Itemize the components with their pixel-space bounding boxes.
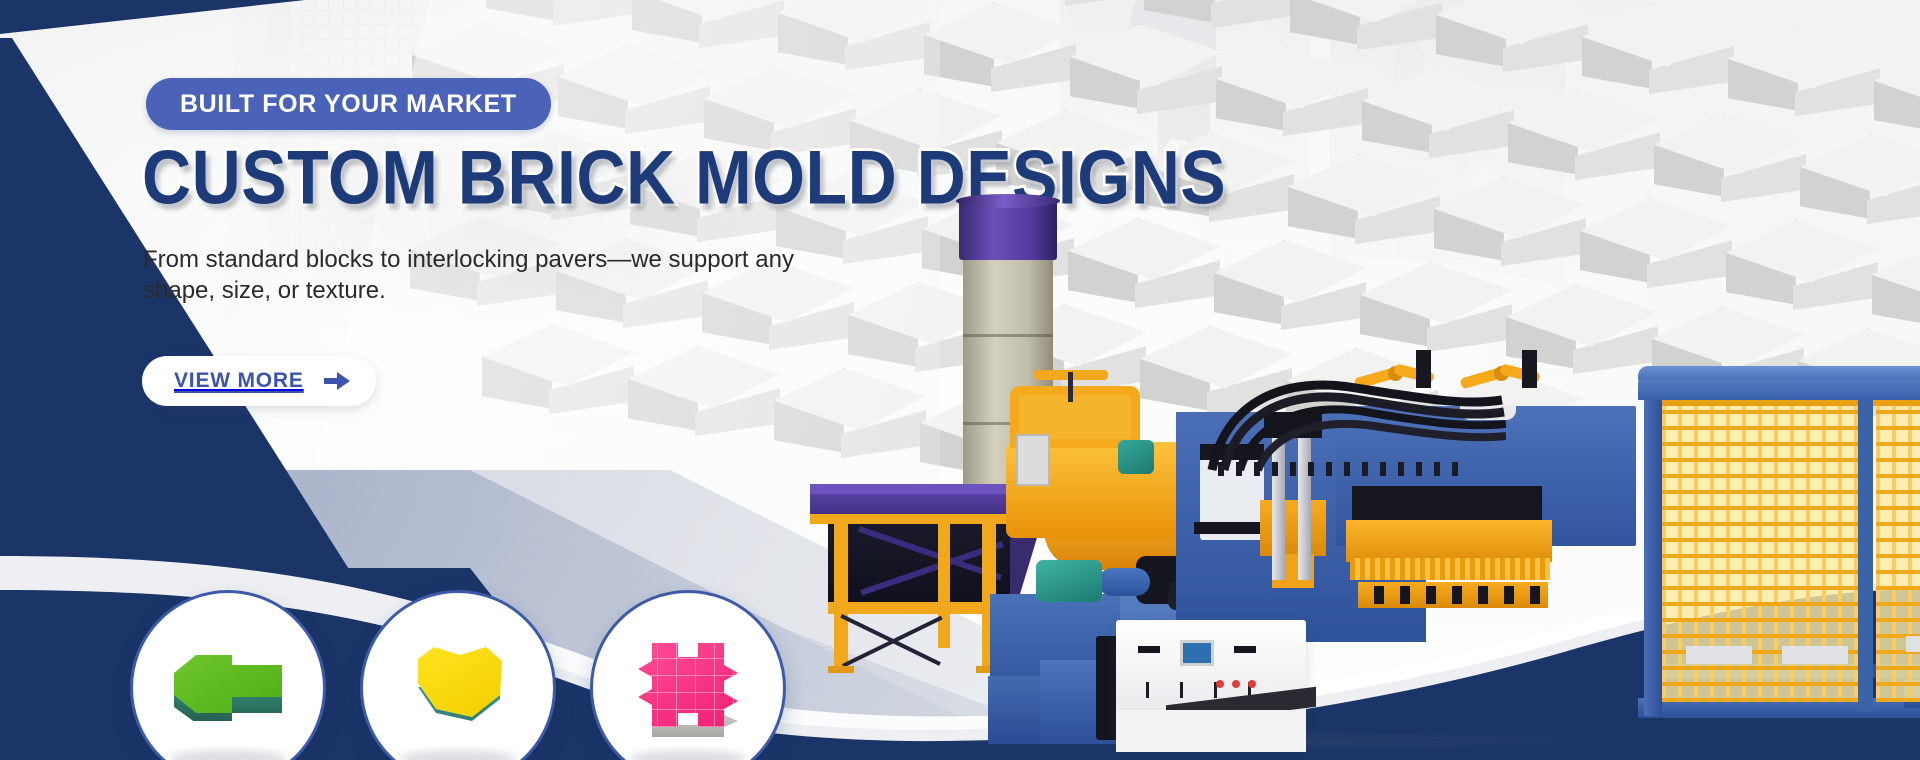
mold-cavity-slots	[1358, 586, 1548, 604]
control-panel-indicators	[1138, 680, 1266, 690]
motor-shaft	[1098, 568, 1150, 596]
view-more-button[interactable]: VIEW MORE	[142, 356, 376, 406]
stacker-top-cap	[1638, 366, 1920, 380]
yellow-shield-paver-icon	[398, 633, 518, 743]
mixer-gearbox	[1118, 440, 1154, 474]
control-panel-screen	[1180, 640, 1214, 666]
eyebrow-badge: BUILT FOR YOUR MARKET	[146, 78, 551, 130]
mold-sample-gallery	[130, 590, 786, 760]
press-head-dark-panel	[1352, 486, 1542, 522]
electric-motor	[1036, 560, 1102, 602]
aggregate-hopper-lip	[810, 484, 1024, 494]
stacker-column	[1644, 386, 1662, 716]
press-mold-holder	[1260, 500, 1326, 556]
view-more-label: VIEW MORE	[174, 369, 304, 393]
block-making-machine-illustration	[820, 190, 1920, 710]
green-interlocking-paver-icon	[168, 633, 288, 743]
arrow-right-icon	[324, 372, 350, 390]
mold-sample-x-shape-paver[interactable]	[590, 590, 786, 760]
mold-shadow	[169, 750, 287, 760]
control-panel-slot	[1138, 646, 1160, 653]
pink-x-shape-paver-icon	[628, 633, 748, 743]
hydraulic-valve-bank	[1218, 462, 1458, 476]
hopper-leg	[834, 520, 848, 670]
mold-tamper-comb	[1350, 558, 1550, 580]
mixer-lift-rod	[1068, 372, 1073, 402]
robot-arm-gripper	[1522, 350, 1537, 388]
hopper-leg	[938, 520, 950, 648]
mold-sample-shield-paver[interactable]	[360, 590, 556, 760]
hero-banner: BUILT FOR YOUR MARKET CUSTOM BRICK MOLD …	[0, 0, 1920, 760]
mold-sample-interlocking-zigzag-paver[interactable]	[130, 590, 326, 760]
mold-shadow	[629, 750, 747, 760]
cement-silo-rim	[956, 194, 1060, 208]
hero-subtitle: From standard blocks to interlocking pav…	[143, 244, 863, 306]
eyebrow-label: BUILT FOR YOUR MARKET	[180, 90, 517, 119]
block-pallet	[1906, 636, 1920, 652]
control-panel-base	[1116, 710, 1306, 752]
mold-shadow	[399, 750, 517, 760]
safety-cage-panel	[1876, 402, 1920, 702]
mold-box-upper	[1346, 520, 1552, 562]
indicator-led-red	[1232, 680, 1240, 688]
hydraulic-hose-bundle	[1206, 366, 1506, 476]
hopper-foot	[828, 666, 854, 673]
indicator-led-red	[1248, 680, 1256, 688]
control-panel-slot	[1234, 646, 1256, 653]
stacker-column	[1858, 390, 1873, 712]
indicator-led-red	[1216, 680, 1224, 688]
hopper-beam-lower	[828, 602, 1010, 614]
silo-band	[963, 334, 1053, 337]
block-pallet	[1686, 646, 1752, 664]
mixer-control-box	[1016, 434, 1050, 486]
block-pallet	[1782, 646, 1848, 664]
paver-texture-grid	[638, 643, 738, 727]
paver-top-face	[414, 647, 504, 717]
